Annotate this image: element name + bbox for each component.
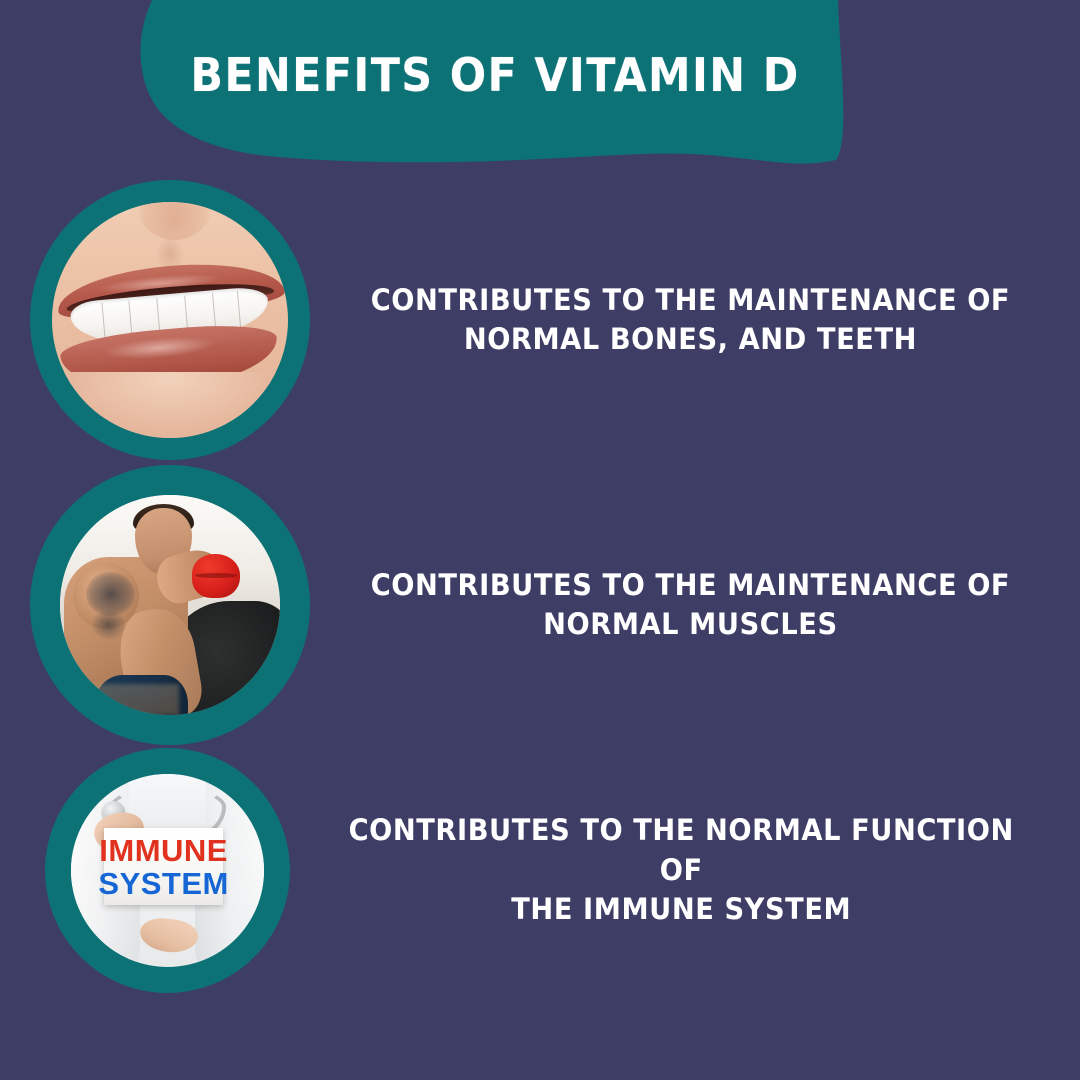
- athlete-gym-photo: [60, 495, 280, 715]
- page-title: BENEFITS OF VITAMIN D: [174, 48, 816, 102]
- benefit-image-ring-2: [30, 465, 310, 745]
- floor-blur-shape: [60, 684, 179, 715]
- sign-line-system: SYSTEM: [98, 868, 228, 899]
- header-blob: BENEFITS OF VITAMIN D: [0, 0, 1080, 200]
- immune-system-sign: IMMUNE SYSTEM: [104, 828, 224, 905]
- benefit-row-immune-system: IMMUNE SYSTEM CONTRIBUTES TO THE NORMAL …: [0, 748, 1080, 993]
- red-glove-shape: [192, 554, 240, 598]
- benefit-text-bones-teeth: CONTRIBUTES TO THE MAINTENANCE OF NORMAL…: [337, 281, 1057, 360]
- hand-lower-shape: [139, 916, 200, 955]
- smiling-mouth-photo: [52, 202, 288, 438]
- benefit-row-bones-teeth: CONTRIBUTES TO THE MAINTENANCE OF NORMAL…: [0, 180, 1080, 460]
- vitamin-d-infographic: BENEFITS OF VITAMIN D CONTRIBUTES TO THE…: [0, 0, 1080, 1080]
- benefit-row-muscles: CONTRIBUTES TO THE MAINTENANCE OF NORMAL…: [0, 465, 1080, 745]
- benefit-text-muscles: CONTRIBUTES TO THE MAINTENANCE OF NORMAL…: [337, 566, 1057, 645]
- sign-line-immune: IMMUNE: [99, 835, 228, 866]
- doctor-immune-sign-photo: IMMUNE SYSTEM: [71, 774, 264, 967]
- benefit-text-immune-system: CONTRIBUTES TO THE NORMAL FUNCTION OF TH…: [314, 811, 1057, 929]
- tattoo-secondary-shape: [91, 609, 126, 640]
- chin-shape: [52, 372, 288, 438]
- benefit-image-ring-1: [30, 180, 310, 460]
- benefit-image-ring-3: IMMUNE SYSTEM: [45, 748, 290, 993]
